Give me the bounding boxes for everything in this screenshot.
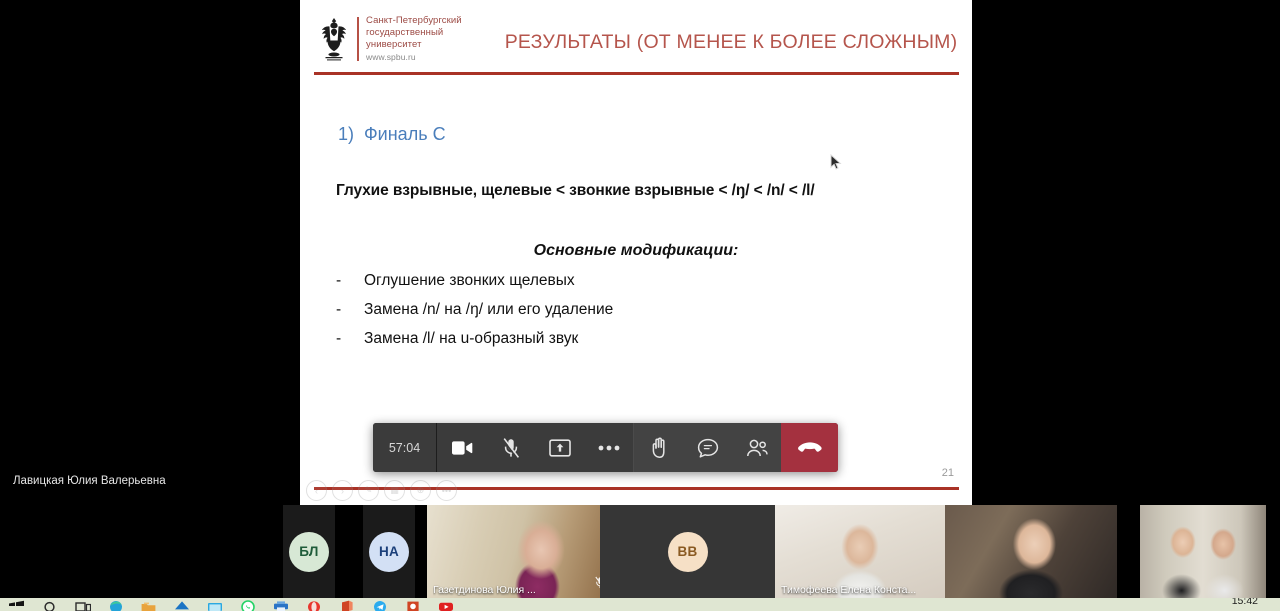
phone-hangup-icon xyxy=(797,441,823,455)
more-actions-button[interactable] xyxy=(584,423,633,472)
chat-bubble-icon xyxy=(697,438,719,458)
list-item[interactable]: БЛ xyxy=(283,505,335,598)
camera-button[interactable] xyxy=(437,423,486,472)
logo-url: www.spbu.ru xyxy=(366,52,462,63)
slide-header: Санкт-Петербургский государственный унив… xyxy=(300,0,972,80)
slide-subheading: Основные модификации: xyxy=(300,242,972,260)
list-item[interactable]: Газетдинова Юлия ... xyxy=(427,505,611,598)
slide-list-number: 1) xyxy=(338,124,364,145)
pen-tool-icon[interactable]: ✎ xyxy=(358,480,379,501)
taskbar-clock[interactable]: 15:42 xyxy=(1232,598,1258,607)
list-item[interactable]: НА xyxy=(363,505,415,598)
slide-number: 21 xyxy=(942,467,954,479)
slide-bullet-list: - Оглушение звонких щелевых - Замена /n/… xyxy=(336,272,946,359)
screen-root: Лавицкая Юлия Валерьевна xyxy=(0,0,1280,611)
bullet-text: Оглушение звонких щелевых xyxy=(364,272,575,290)
mouse-pointer-icon xyxy=(830,154,842,171)
powerpoint-icon[interactable] xyxy=(396,598,429,611)
meeting-timer: 57:04 xyxy=(373,423,437,472)
logo-text: Санкт-Петербургский государственный унив… xyxy=(366,15,462,63)
slide-title: РЕЗУЛЬТАТЫ (ОТ МЕНЕЕ К БОЛЕЕ СЛОЖНЫМ) xyxy=(500,31,962,54)
whatsapp-icon[interactable] xyxy=(231,598,264,611)
avatar: ВВ xyxy=(668,532,708,572)
people-icon xyxy=(745,438,769,458)
windows-taskbar[interactable]: 15:42 xyxy=(0,598,1280,611)
office-icon[interactable] xyxy=(330,598,363,611)
participants-button[interactable] xyxy=(732,423,781,472)
toolbar-primary-group xyxy=(437,423,633,472)
slide-list-label: Финаль С xyxy=(364,124,446,144)
all-slides-icon[interactable]: ▦ xyxy=(384,480,405,501)
search-icon[interactable] xyxy=(33,598,66,611)
logo-line-3: университет xyxy=(366,39,462,50)
logo-line-2: государственный xyxy=(366,27,462,38)
slide-main-line: Глухие взрывные, щелевые < звонкие взрыв… xyxy=(336,182,946,200)
task-view-icon[interactable] xyxy=(66,598,99,611)
avatar: НА xyxy=(369,532,409,572)
avatar: БЛ xyxy=(289,532,329,572)
bullet-dash: - xyxy=(336,301,364,319)
logo-divider xyxy=(357,17,359,61)
telegram-icon[interactable] xyxy=(363,598,396,611)
header-divider xyxy=(314,72,959,75)
list-item[interactable]: Тимофеева Елена Конста... xyxy=(775,505,945,598)
list-item[interactable] xyxy=(945,505,1117,598)
taskbar-icon-group xyxy=(0,598,462,611)
opera-icon[interactable] xyxy=(297,598,330,611)
presentation-controls[interactable]: ‹ › ✎ ▦ ⊕ ••• xyxy=(306,480,457,501)
meeting-stage: Лавицкая Юлия Валерьевна xyxy=(0,0,1280,505)
share-screen-button[interactable] xyxy=(535,423,584,472)
display-icon[interactable] xyxy=(198,598,231,611)
zoom-slide-icon[interactable]: ⊕ xyxy=(410,480,431,501)
hangup-button[interactable] xyxy=(781,423,838,472)
list-item: - Замена /n/ на /ŋ/ или его удаление xyxy=(336,301,946,330)
raise-hand-button[interactable] xyxy=(634,423,683,472)
bullet-dash: - xyxy=(336,330,364,348)
edge-browser-icon[interactable] xyxy=(99,598,132,611)
presenter-name-label: Лавицкая Юлия Валерьевна xyxy=(13,475,166,487)
bullet-dash: - xyxy=(336,272,364,290)
participants-filmstrip: БЛ НА Газетдинова Юлия ... ВВ Тимофеева … xyxy=(0,505,1280,598)
slide-list-item-1: 1)Финаль С xyxy=(338,124,446,145)
ellipsis-icon xyxy=(598,445,620,451)
chat-button[interactable] xyxy=(683,423,732,472)
russian-coat-of-arms-eagle-icon xyxy=(318,16,350,62)
list-item[interactable] xyxy=(1140,505,1266,598)
participant-name: Газетдинова Юлия ... xyxy=(433,584,536,596)
prev-slide-icon[interactable]: ‹ xyxy=(306,480,327,501)
camera-icon xyxy=(451,440,473,456)
spbu-logo: Санкт-Петербургский государственный унив… xyxy=(318,15,462,63)
bullet-text: Замена /n/ на /ŋ/ или его удаление xyxy=(364,301,613,319)
next-slide-icon[interactable]: › xyxy=(332,480,353,501)
share-screen-icon xyxy=(549,439,571,457)
raise-hand-icon xyxy=(649,437,669,459)
list-item: - Оглушение звонких щелевых xyxy=(336,272,946,301)
list-item: - Замена /l/ на u-образный звук xyxy=(336,330,946,359)
youtube-icon[interactable] xyxy=(429,598,462,611)
windows-start-icon[interactable] xyxy=(0,598,33,611)
toolbar-secondary-group xyxy=(633,423,781,472)
meeting-toolbar: 57:04 xyxy=(373,423,838,472)
onedrive-icon[interactable] xyxy=(165,598,198,611)
microphone-button[interactable] xyxy=(486,423,535,472)
list-item[interactable]: ВВ xyxy=(600,505,775,598)
logo-line-1: Санкт-Петербургский xyxy=(366,15,462,26)
bullet-text: Замена /l/ на u-образный звук xyxy=(364,330,578,348)
printer-icon[interactable] xyxy=(264,598,297,611)
microphone-muted-icon xyxy=(501,437,521,459)
file-explorer-icon[interactable] xyxy=(132,598,165,611)
participant-name: Тимофеева Елена Конста... xyxy=(781,584,916,596)
more-options-icon[interactable]: ••• xyxy=(436,480,457,501)
